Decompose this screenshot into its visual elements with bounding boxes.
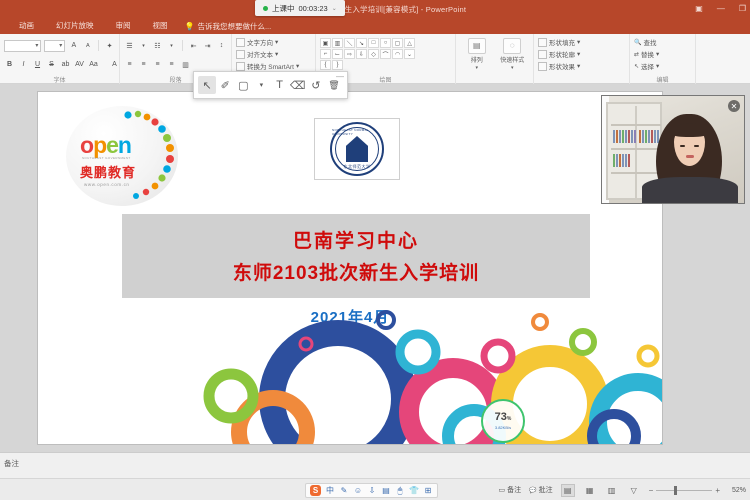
shape-fill-icon [538,38,547,47]
find-label: 查找 [643,37,656,47]
quick-styles-icon: ◌ [503,38,521,54]
ribbon-group-editing: 🔍 查找 ⇄ 替换▾ ↖ 选择▾ 编辑 [630,34,696,84]
ime-emoji-icon[interactable]: ☺ [353,486,363,495]
shape-fill-label: 形状填充 [549,37,575,47]
bold-button[interactable]: B [4,58,15,71]
logo-letter-o: o [80,132,93,158]
quick-styles-button[interactable]: ◌ 快速样式 ▾ [496,36,530,72]
quick-styles-label: 快速样式 [500,55,524,64]
lightbulb-icon: 💡 [185,22,195,31]
shape-outline-label: 形状轮廓 [549,49,575,59]
ime-skin-icon[interactable]: 👕 [409,486,419,495]
shape-item[interactable]: ＼ [344,38,355,48]
circles-graphic [38,304,662,444]
ime-handwriting-icon[interactable]: ✎ [339,486,349,495]
ime-menu-icon[interactable]: ⊞ [423,486,433,495]
shape-item[interactable]: ↘ [356,38,367,48]
strikethrough-button[interactable]: S [46,58,57,71]
logo-url: www.open.com.cn [84,182,130,187]
text-direction-label: 文字方向 [247,37,273,47]
align-right-button[interactable]: ≡ [152,58,163,71]
shape-effects-label: 形状效果 [549,61,575,71]
cursor-icon: ↖ [634,63,639,70]
view-normal-button[interactable]: ▤ [561,484,575,497]
ribbon-display-options-icon[interactable]: ▣ [695,5,703,13]
restore-icon[interactable]: ❐ [739,5,746,13]
class-timer: 00:03:23 [299,4,328,13]
webcam-video-overlay[interactable]: ✕ [601,95,745,204]
powerpoint-window: [东北师范大学] 新生入学培训[兼容模式] - PowerPoint ▣ — ❐… [0,0,750,500]
download-speed-value: 3.82KB/s [495,425,511,430]
ribbon-tab-bar: 动画 幻灯片放映 审阅 视图 💡 告诉我您想要做什么... 袁 晨英 共享 [0,18,750,34]
replace-label: 替换 [641,49,654,59]
select-button[interactable]: ↖ 选择▾ [634,61,691,71]
seal-ring: NORTHEAST NORMAL UNIVERSITY 东北师范大学 [330,122,384,176]
grow-font-icon[interactable]: A [68,39,79,52]
ribbon-group-arrange: ▤ 排列 ▾ ◌ 快速样式 ▾ [456,34,534,84]
shape-effects-button[interactable]: 形状效果▾ [538,61,625,71]
undo-tool-icon[interactable]: ↺ [307,76,325,94]
person-shoulders [642,177,738,203]
align-left-button[interactable]: ≡ [124,58,135,71]
arrange-icon: ▤ [468,38,486,54]
shrink-font-icon[interactable]: A [82,39,93,52]
character-spacing-button[interactable]: AV [74,58,85,71]
shape-outline-icon [538,50,547,59]
shape-item[interactable]: ▣ [320,38,331,48]
minimize-toolbar-icon[interactable]: — [336,72,344,81]
logo-tagline: SOUTHEAST GOVERNMENT [82,156,131,160]
shelf [611,124,661,126]
pen-tool-icon[interactable]: ✐ [216,76,234,94]
ribbon-body: ▾ ▾ A A ✦ B I U S ab AV Aa A 字 [0,34,750,84]
ime-voice-icon[interactable]: ⇩ [367,486,377,495]
books [613,154,630,167]
text-direction-icon [236,38,245,47]
speed-percent: 73% [495,412,512,423]
shape-item[interactable]: ◠ [392,49,403,59]
line-spacing-button[interactable]: ↕ [216,39,227,52]
shape-item[interactable]: ▢ [392,38,403,48]
columns-button[interactable]: ▥ [180,58,191,71]
italic-button[interactable]: I [18,58,29,71]
class-status-pill[interactable]: 上课中 00:03:23 ⌄ [255,0,345,16]
seal-bottom-text: 东北师范大学 [344,164,371,170]
shape-item[interactable]: △ [404,38,415,48]
select-tool-icon[interactable]: ↖ [198,76,216,94]
shape-item[interactable]: } [332,60,343,70]
convert-smartart-button[interactable]: 转换为 SmartArt▾ [236,61,311,71]
zoom-track[interactable] [656,490,712,491]
shape-tool-icon[interactable]: ▢ [234,76,252,94]
books [639,130,659,143]
shelf [611,148,661,150]
ime-mouse-icon[interactable]: 🖱 [395,486,405,496]
notes-pane[interactable]: 备注 [0,452,750,478]
smartart-icon [236,62,245,71]
sogou-logo-icon[interactable]: S [310,485,321,496]
shape-outline-button[interactable]: 形状轮廓▾ [538,49,625,59]
network-speed-widget[interactable]: 73% 3.82KB/s [481,399,525,443]
university-seal: NORTHEAST NORMAL UNIVERSITY 东北师范大学 [314,118,400,180]
eye-right [694,145,699,147]
mouth [686,155,694,158]
bookcase-divider [635,106,637,200]
eye-left [680,145,685,147]
chevron-down-icon[interactable]: ⌄ [332,5,337,12]
books [613,130,636,143]
tab-animations[interactable]: 动画 [8,18,45,34]
shape-item[interactable]: ▥ [332,38,343,48]
window-controls: ▣ — ❐ [695,0,746,18]
live-status-dot [263,6,268,11]
text-tool-icon[interactable]: T [271,76,289,94]
shape-fill-button[interactable]: 形状填充▾ [538,37,625,47]
logo-letter-p: p [93,132,106,158]
shapes-gallery[interactable]: ▣ ▥ ＼ ↘ □ ○ ▢ △ ⌐ ⌙ ⇨ ⇩ ◇ ⌒ ◠ ⌄ { } [320,38,451,70]
view-slide-sorter-button[interactable]: ▦ [583,484,597,497]
zoom-slider[interactable]: − + [649,486,720,495]
tab-slideshow[interactable]: 幻灯片放映 [45,18,105,34]
comments-button-label: 批注 [539,485,553,495]
decorative-circles [38,304,662,444]
select-label: 选择 [641,61,654,71]
justify-button[interactable]: ≡ [166,58,177,71]
tab-review[interactable]: 审阅 [105,18,142,34]
logo-letter-e: e [106,132,118,158]
divider [98,40,99,51]
change-case-button[interactable]: Aa [88,58,99,71]
tab-view[interactable]: 视图 [142,18,179,34]
percent-symbol: % [507,416,511,422]
shape-item[interactable]: ◇ [368,49,379,59]
search-icon: 🔍 [634,39,641,46]
title-band[interactable]: 巴南学习中心 东师2103批次新生入学培训 [122,214,590,298]
slide-canvas[interactable]: open SOUTHEAST GOVERNMENT 奥鹏教育 www.open.… [38,92,662,444]
font-color-button[interactable]: A [109,58,120,71]
arrange-button[interactable]: ▤ 排列 ▾ [460,36,494,72]
text-shadow-button[interactable]: ab [60,58,71,71]
class-status-label: 上课中 [272,3,295,14]
shelf [611,172,661,174]
ime-chinese-mode-icon[interactable]: 中 [325,485,335,496]
ime-toolbox-icon[interactable]: ▤ [381,486,391,495]
font-name-combo[interactable]: ▾ [4,40,41,52]
zoom-level-value[interactable]: 52% [728,487,746,494]
underline-button[interactable]: U [32,58,43,71]
slide-title-line2: 东师2103批次新生入学培训 [122,258,590,285]
shape-item[interactable]: □ [368,38,379,48]
comment-icon: 💬 [529,487,536,494]
notes-toggle-button[interactable]: ▭ 备注 [499,485,522,495]
shape-item[interactable]: ⇩ [356,49,367,59]
decrease-indent-button[interactable]: ⇤ [188,39,199,52]
open-wordmark: open [80,134,131,157]
shape-item[interactable]: ⌄ [404,49,415,59]
align-text-icon [236,50,245,59]
convert-smartart-label: 转换为 SmartArt [247,61,294,71]
ribbon-group-font: ▾ ▾ A A ✦ B I U S ab AV Aa A 字 [0,34,120,84]
seal-top-text: NORTHEAST NORMAL UNIVERSITY [332,128,382,136]
shape-item[interactable]: ⌐ [320,49,331,59]
eraser-tool-icon[interactable]: ⌫ [289,76,307,94]
editing-group-label: 编辑 [630,75,695,84]
shape-item[interactable]: ⌙ [332,49,343,59]
tell-me-placeholder: 告诉我您想要做什么... [197,21,271,32]
text-direction-button[interactable]: 文字方向▾ [236,37,311,47]
ribbon-group-shape-styles: 形状填充▾ 形状轮廓▾ 形状效果▾ [534,34,630,84]
increase-indent-button[interactable]: ⇥ [202,39,213,52]
zoom-knob[interactable] [674,486,677,495]
arrange-label: 排列 [471,55,483,64]
divider [182,40,183,51]
speed-percent-value: 73 [495,411,507,423]
zoom-out-button[interactable]: − [649,486,654,495]
align-text-label: 对齐文本 [247,49,273,59]
view-slideshow-button[interactable]: ▽ [627,484,641,497]
numbering-button[interactable]: ☷ [152,39,163,52]
align-text-button[interactable]: 对齐文本▾ [236,49,311,59]
tell-me-box[interactable]: 💡 告诉我您想要做什么... [179,21,272,32]
notes-button-label: 备注 [507,485,521,495]
notes-placeholder: 备注 [4,458,19,469]
font-size-combo[interactable]: ▾ [44,40,65,52]
open-education-logo: open SOUTHEAST GOVERNMENT 奥鹏教育 www.open.… [66,106,184,206]
shape-effects-icon [538,62,547,71]
ime-toolbar[interactable]: S 中 ✎ ☺ ⇩ ▤ 🖱 👕 ⊞ [305,483,438,498]
find-button[interactable]: 🔍 查找 [634,37,691,47]
comments-toggle-button[interactable]: 💬 批注 [529,485,552,495]
logo-chinese-name: 奥鹏教育 [80,162,136,181]
shape-tool-caret-icon[interactable]: ▾ [252,76,270,94]
close-icon[interactable]: ✕ [728,100,740,112]
minimize-icon[interactable]: — [717,5,725,13]
shape-item[interactable]: ⌒ [380,49,391,59]
slide-title-line1: 巴南学习中心 [122,226,590,253]
replace-button[interactable]: ⇄ 替换▾ [634,49,691,59]
zoom-in-button[interactable]: + [715,486,720,495]
title-bar: [东北师范大学] 新生入学培训[兼容模式] - PowerPoint ▣ — ❐ [0,0,750,18]
shape-item[interactable]: ○ [380,38,391,48]
status-right-cluster: ▭ 备注 💬 批注 ▤ ▦ ▥ ▽ − + 52% [499,479,746,500]
replace-icon: ⇄ [634,51,639,58]
align-center-button[interactable]: ≡ [138,58,149,71]
ink-annotation-toolbar: — ↖ ✐ ▢ ▾ T ⌫ ↺ 🗑 [193,71,348,99]
shape-item[interactable]: { [320,60,331,70]
logo-letter-n: n [118,132,131,158]
shape-item[interactable]: ⇨ [344,49,355,59]
notes-icon: ▭ [499,486,506,494]
seal-emblem [346,136,368,162]
view-reading-button[interactable]: ▥ [605,484,619,497]
bullets-button[interactable]: ☰ [124,39,135,52]
clear-formatting-icon[interactable]: ✦ [104,39,115,52]
font-group-label: 字体 [0,75,119,84]
